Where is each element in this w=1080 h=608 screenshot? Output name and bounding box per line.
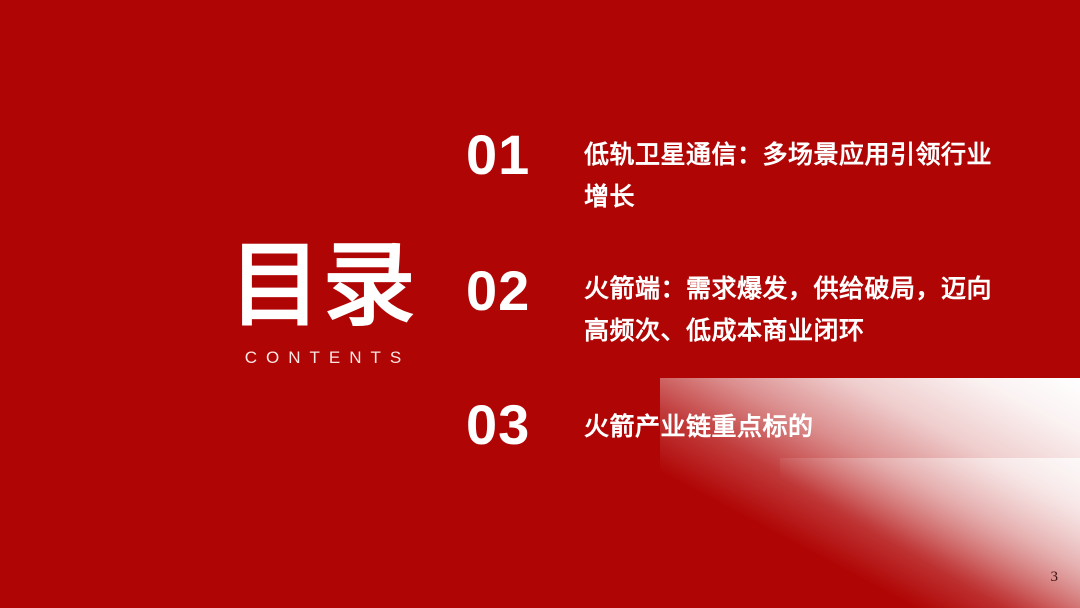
contents-item-label: 火箭产业链重点标的 [584, 396, 1006, 448]
title-block: 目录 CONTENTS [208, 240, 438, 368]
contents-list: 01 低轨卫星通信：多场景应用引领行业增长 02 火箭端：需求爆发，供给破局，迈… [466, 126, 1006, 455]
contents-item-number: 02 [466, 262, 584, 321]
contents-item-label: 火箭端：需求爆发，供给破局，迈向高频次、低成本商业闭环 [584, 262, 1006, 352]
page-number: 3 [1051, 569, 1059, 586]
contents-item-number: 01 [466, 126, 584, 185]
contents-item-03[interactable]: 03 火箭产业链重点标的 [466, 396, 1006, 455]
contents-item-label: 低轨卫星通信：多场景应用引领行业增长 [584, 126, 1006, 218]
corner-gradient-decoration-inner [780, 458, 1080, 608]
contents-item-02[interactable]: 02 火箭端：需求爆发，供给破局，迈向高频次、低成本商业闭环 [466, 262, 1006, 352]
slide-canvas: 目录 CONTENTS 01 低轨卫星通信：多场景应用引领行业增长 02 火箭端… [0, 0, 1080, 608]
page-title: 目录 [208, 240, 438, 332]
page-subtitle: CONTENTS [208, 348, 438, 368]
contents-item-number: 03 [466, 396, 584, 455]
contents-item-01[interactable]: 01 低轨卫星通信：多场景应用引领行业增长 [466, 126, 1006, 218]
